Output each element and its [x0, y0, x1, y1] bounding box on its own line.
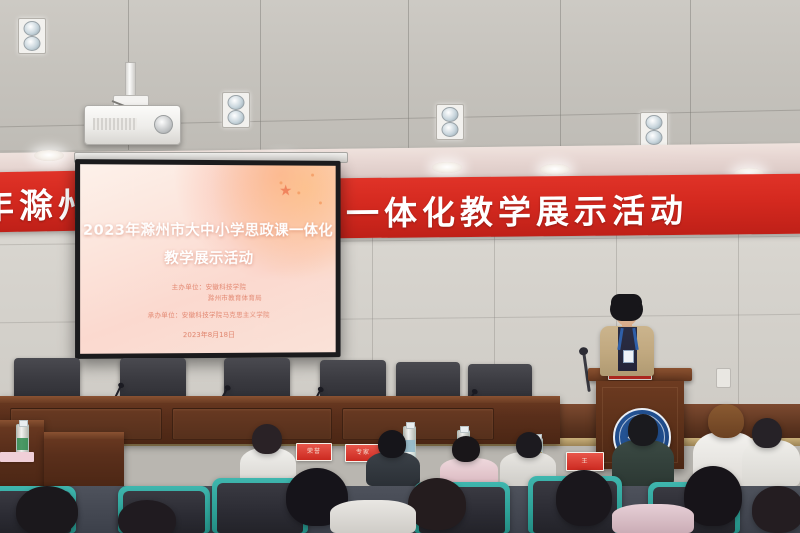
audience-person	[330, 500, 416, 533]
projector-icon	[84, 105, 181, 145]
audience-head	[408, 478, 466, 530]
speaker-fringe	[611, 294, 642, 307]
banner-right-text: 一体化教学展示活动	[346, 184, 688, 235]
audience-head	[752, 486, 800, 533]
slide-organizer: 承办单位：安徽科技学院马克思主义学院	[80, 309, 336, 320]
ceiling-spotlight-icon	[222, 92, 250, 128]
audience-head	[556, 470, 612, 526]
banner-right: 一体化教学展示活动	[336, 174, 800, 238]
slide-host-line2: 滁州市教育体育局	[80, 292, 336, 303]
ceiling	[0, 0, 800, 150]
document-paper	[0, 452, 34, 462]
projector-lens	[154, 115, 173, 134]
audience-head	[752, 418, 782, 448]
projection-screen: ★ 2023年滁州市大中小学思政课一体化 教学展示活动 主办单位：安徽科技学院 …	[80, 164, 336, 354]
audience-head	[516, 432, 542, 458]
name-placard-text: 荣誉	[297, 444, 331, 460]
projection-screen-frame: ★ 2023年滁州市大中小学思政课一体化 教学展示活动 主办单位：安徽科技学院 …	[75, 159, 341, 359]
name-placard: 荣誉	[296, 443, 332, 461]
audience-head	[118, 500, 176, 533]
slide-star-icon: ★	[279, 181, 292, 199]
audience-person	[612, 504, 694, 533]
name-placard-text: 王	[567, 453, 603, 470]
audience-head	[628, 414, 658, 446]
ceiling-spotlight-icon	[18, 18, 46, 54]
speaker-badge	[623, 350, 634, 363]
downlight-icon	[34, 150, 64, 161]
audience-head	[16, 486, 78, 533]
ceiling-spotlight-icon	[640, 112, 668, 148]
name-placard: 王	[566, 452, 604, 471]
audience-head	[378, 430, 406, 458]
conference-photo-scene: 年滁州 一体化教学展示活动 ★ 2023年滁州市大中小学思政课一体化 教学展示活…	[0, 0, 800, 533]
slide-title-line1: 2023年滁州市大中小学思政课一体化	[80, 219, 336, 241]
audience-head	[252, 424, 282, 454]
downlight-icon	[540, 164, 570, 175]
projector-vent	[93, 118, 137, 130]
ceiling-spotlight-icon	[436, 104, 464, 140]
slide-host-line1: 主办单位：安徽科技学院	[80, 281, 336, 291]
slide-title-line2: 教学展示活动	[80, 247, 336, 268]
wall-outlet-icon	[716, 368, 731, 388]
audience-head	[708, 404, 744, 438]
audience-head	[452, 436, 480, 462]
slide-date: 2023年8月18日	[80, 329, 336, 340]
downlight-icon	[432, 162, 462, 173]
head-table-front-extension	[44, 432, 124, 490]
audience-person	[612, 440, 674, 486]
